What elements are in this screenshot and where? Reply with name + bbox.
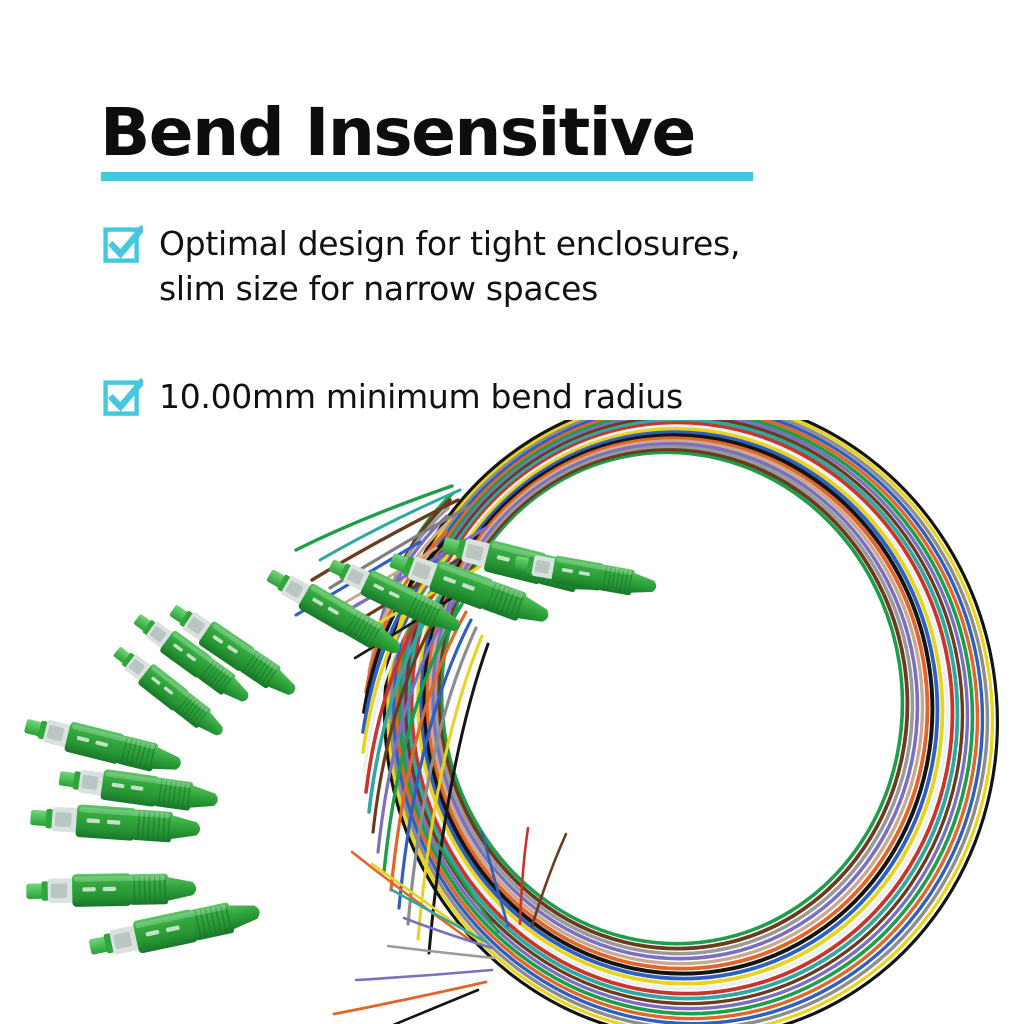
page-title: Bend Insensitive — [100, 96, 860, 170]
list-item-label: 10.00mm minimum bend radius — [159, 374, 683, 419]
list-item-label: Optimal design for tight enclosures, sli… — [159, 221, 740, 311]
checkbox-checked-icon — [103, 378, 143, 420]
list-item: Optimal design for tight enclosures, sli… — [103, 221, 863, 311]
product-feature-card: Bend Insensitive Optimal design for tigh… — [0, 0, 1024, 1024]
list-item: 10.00mm minimum bend radius — [103, 374, 863, 420]
title-underline-bar — [101, 172, 753, 181]
heading-block: Bend Insensitive — [100, 96, 860, 170]
checkbox-checked-icon — [103, 225, 143, 267]
fiber-optic-pigtail-coil-photo — [0, 420, 1024, 1024]
